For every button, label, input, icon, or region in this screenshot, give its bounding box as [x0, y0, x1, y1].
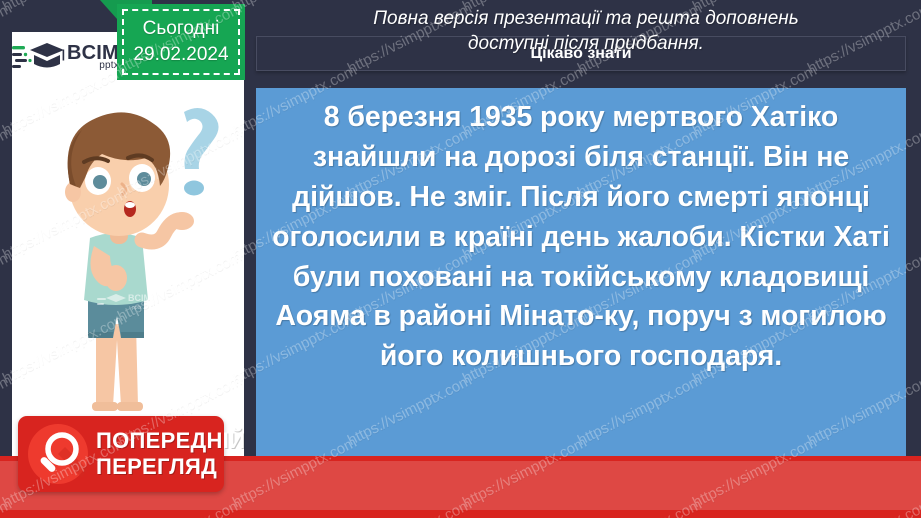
- today-date-badge: Сьогодні 29.02.2024: [117, 4, 245, 80]
- preview-badge-labels: ПОПЕРЕДНІЙ ПЕРЕГЛЯД: [96, 430, 245, 478]
- content-body-text: 8 березня 1935 року мертвого Хатіко знай…: [256, 88, 906, 377]
- today-label: Сьогодні: [143, 16, 220, 42]
- brand-logo: BCIM pptx: [12, 35, 122, 79]
- preview-badge: ПОПЕРЕДНІЙ ПЕРЕГЛЯД: [18, 416, 224, 492]
- svg-text:pptx: pptx: [132, 305, 142, 311]
- today-date: 29.02.2024: [133, 42, 228, 68]
- graduation-cap-icon: [12, 37, 66, 77]
- logo-wordmark: BCIM pptx: [67, 43, 119, 71]
- question-mark-icon: [184, 108, 219, 196]
- footer-line-2: доступні після придбання.: [256, 31, 916, 56]
- slide-canvas: BCIM pptx Сьогодні 29.02.2024: [0, 0, 921, 518]
- preview-badge-line1: ПОПЕРЕДНІЙ: [96, 430, 245, 452]
- footer-line-1: Повна версія презентації та решта доповн…: [256, 6, 916, 31]
- preview-badge-line2: ПЕРЕГЛЯД: [96, 456, 245, 478]
- magnifier-icon: [27, 423, 89, 485]
- content-panel: 8 березня 1935 року мертвого Хатіко знай…: [256, 88, 906, 463]
- footer-banner-text: Повна версія презентації та решта доповн…: [256, 6, 916, 56]
- thinking-boy-illustration: BCIM pptx: [18, 88, 244, 418]
- svg-text:BCIM: BCIM: [128, 293, 151, 303]
